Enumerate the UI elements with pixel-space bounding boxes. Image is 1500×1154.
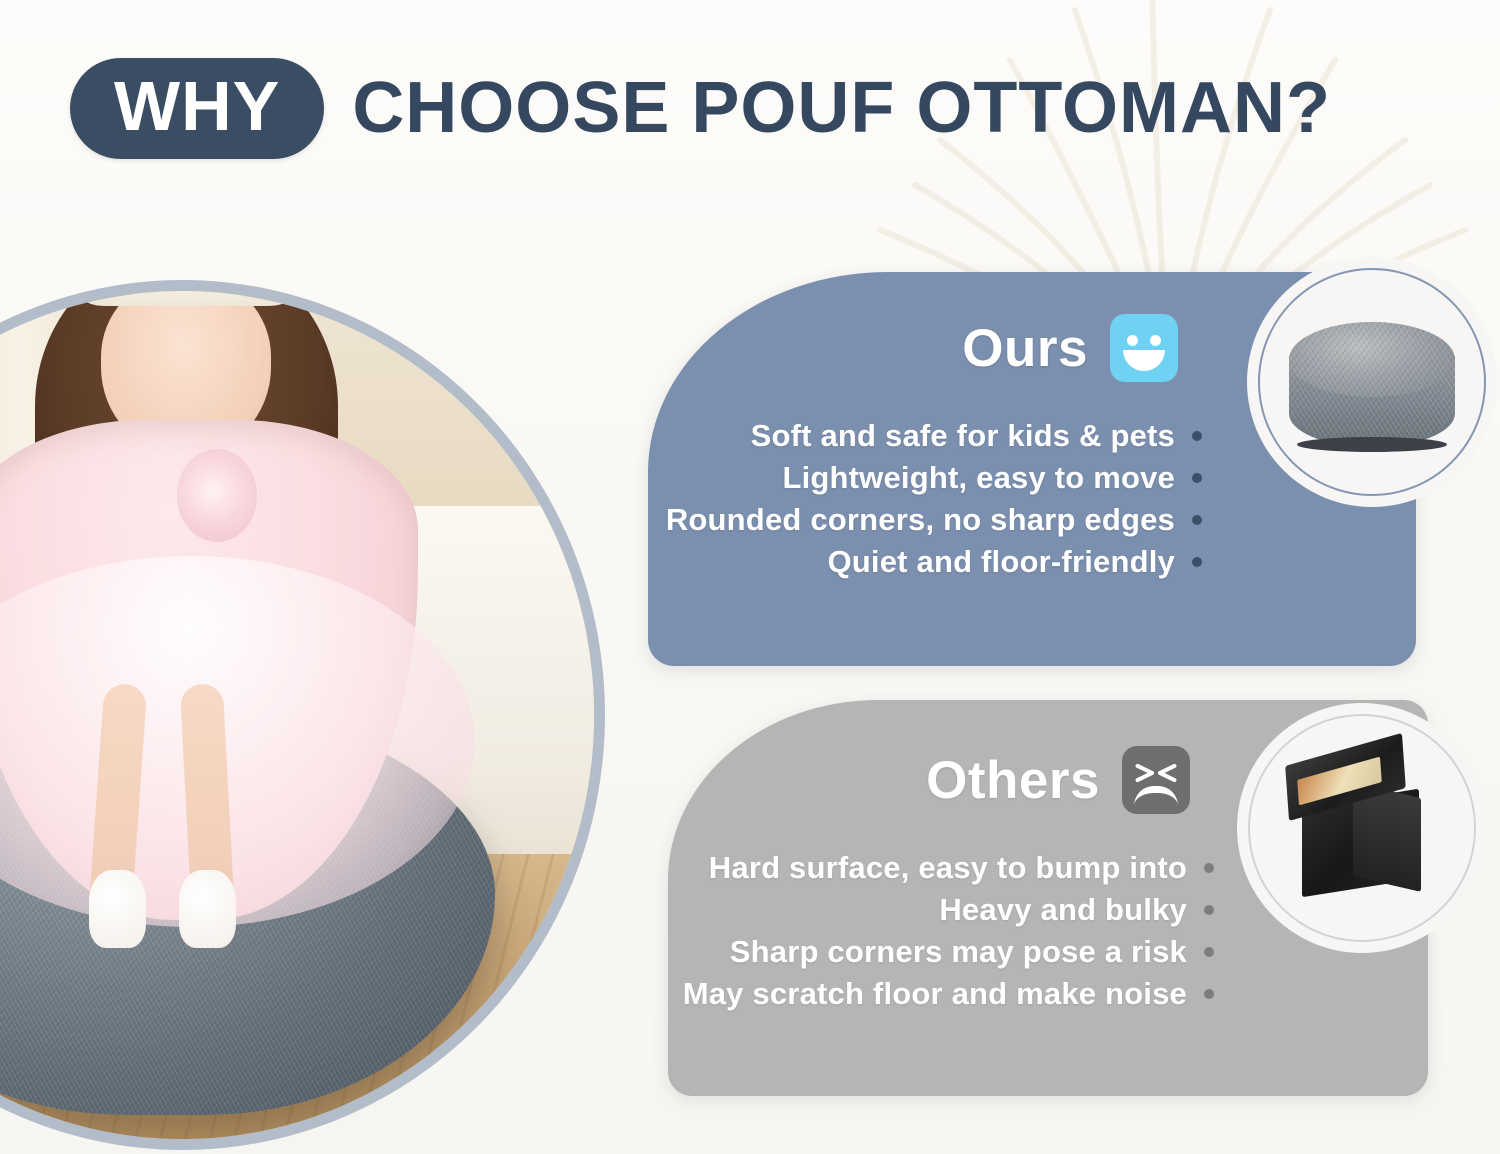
photo-circle-ring [0,280,605,1150]
others-heading: Others [926,750,1100,811]
girl-figure [0,280,428,941]
list-item: May scratch floor and make noise [683,976,1214,1012]
list-item: Sharp corners may pose a risk [730,934,1214,970]
ours-heading: Ours [962,318,1088,379]
pouf-thumb-texture [1289,322,1455,446]
sad-eye-left [1133,763,1153,783]
ours-item-label: Rounded corners, no sharp edges [666,502,1175,538]
happy-eye-left [1127,335,1138,346]
sad-mouth [1134,786,1178,806]
list-item: Quiet and floor-friendly [827,544,1202,580]
ours-product-thumbnail [1258,268,1486,496]
photo-image [0,280,605,1150]
why-badge-label: WHY [114,72,280,141]
why-badge: WHY [70,58,324,159]
bullet-dot-icon [1192,431,1202,441]
round-pouf-image [1278,288,1466,476]
bullet-dot-icon [1204,905,1214,915]
ours-item-label: Lightweight, easy to move [782,460,1175,496]
happy-mouth [1123,350,1165,371]
page-header: WHY CHOOSE POUF OTTOMAN? [70,58,1331,159]
others-item-label: Hard surface, easy to bump into [709,850,1187,886]
lifestyle-photo [0,280,605,1150]
list-item: Soft and safe for kids & pets [751,418,1202,454]
room-scene [0,280,605,1150]
ours-item-label: Quiet and floor-friendly [827,544,1175,580]
bullet-dot-icon [1204,989,1214,999]
ours-benefit-list: Soft and safe for kids & pets Lightweigh… [666,418,1202,580]
bullet-dot-icon [1192,515,1202,525]
list-item: Heavy and bulky [939,892,1214,928]
square-ottoman-image [1268,734,1456,922]
happy-eye-right [1150,335,1161,346]
girl-shoe-left [89,870,146,948]
others-product-thumbnail [1248,714,1476,942]
bullet-dot-icon [1204,863,1214,873]
happy-face-icon [1110,314,1178,382]
bullet-dot-icon [1192,473,1202,483]
others-item-label: Sharp corners may pose a risk [730,934,1187,970]
list-item: Rounded corners, no sharp edges [666,502,1202,538]
pouf-thumb-base [1297,437,1448,452]
list-item: Lightweight, easy to move [782,460,1202,496]
ours-item-label: Soft and safe for kids & pets [751,418,1175,454]
bullet-dot-icon [1204,947,1214,957]
girl-shoe-right [179,870,236,948]
page-title: CHOOSE POUF OTTOMAN? [352,72,1331,144]
others-item-label: Heavy and bulky [939,892,1187,928]
ours-heading-group: Ours [962,314,1178,382]
others-item-label: May scratch floor and make noise [683,976,1187,1012]
sad-eye-right [1159,763,1179,783]
bullet-dot-icon [1192,557,1202,567]
others-drawback-list: Hard surface, easy to bump into Heavy an… [683,850,1214,1012]
sad-face-icon [1122,746,1190,814]
list-item: Hard surface, easy to bump into [709,850,1214,886]
girl-headband [87,280,286,306]
others-heading-group: Others [926,746,1190,814]
dress-rose-detail [177,449,257,542]
